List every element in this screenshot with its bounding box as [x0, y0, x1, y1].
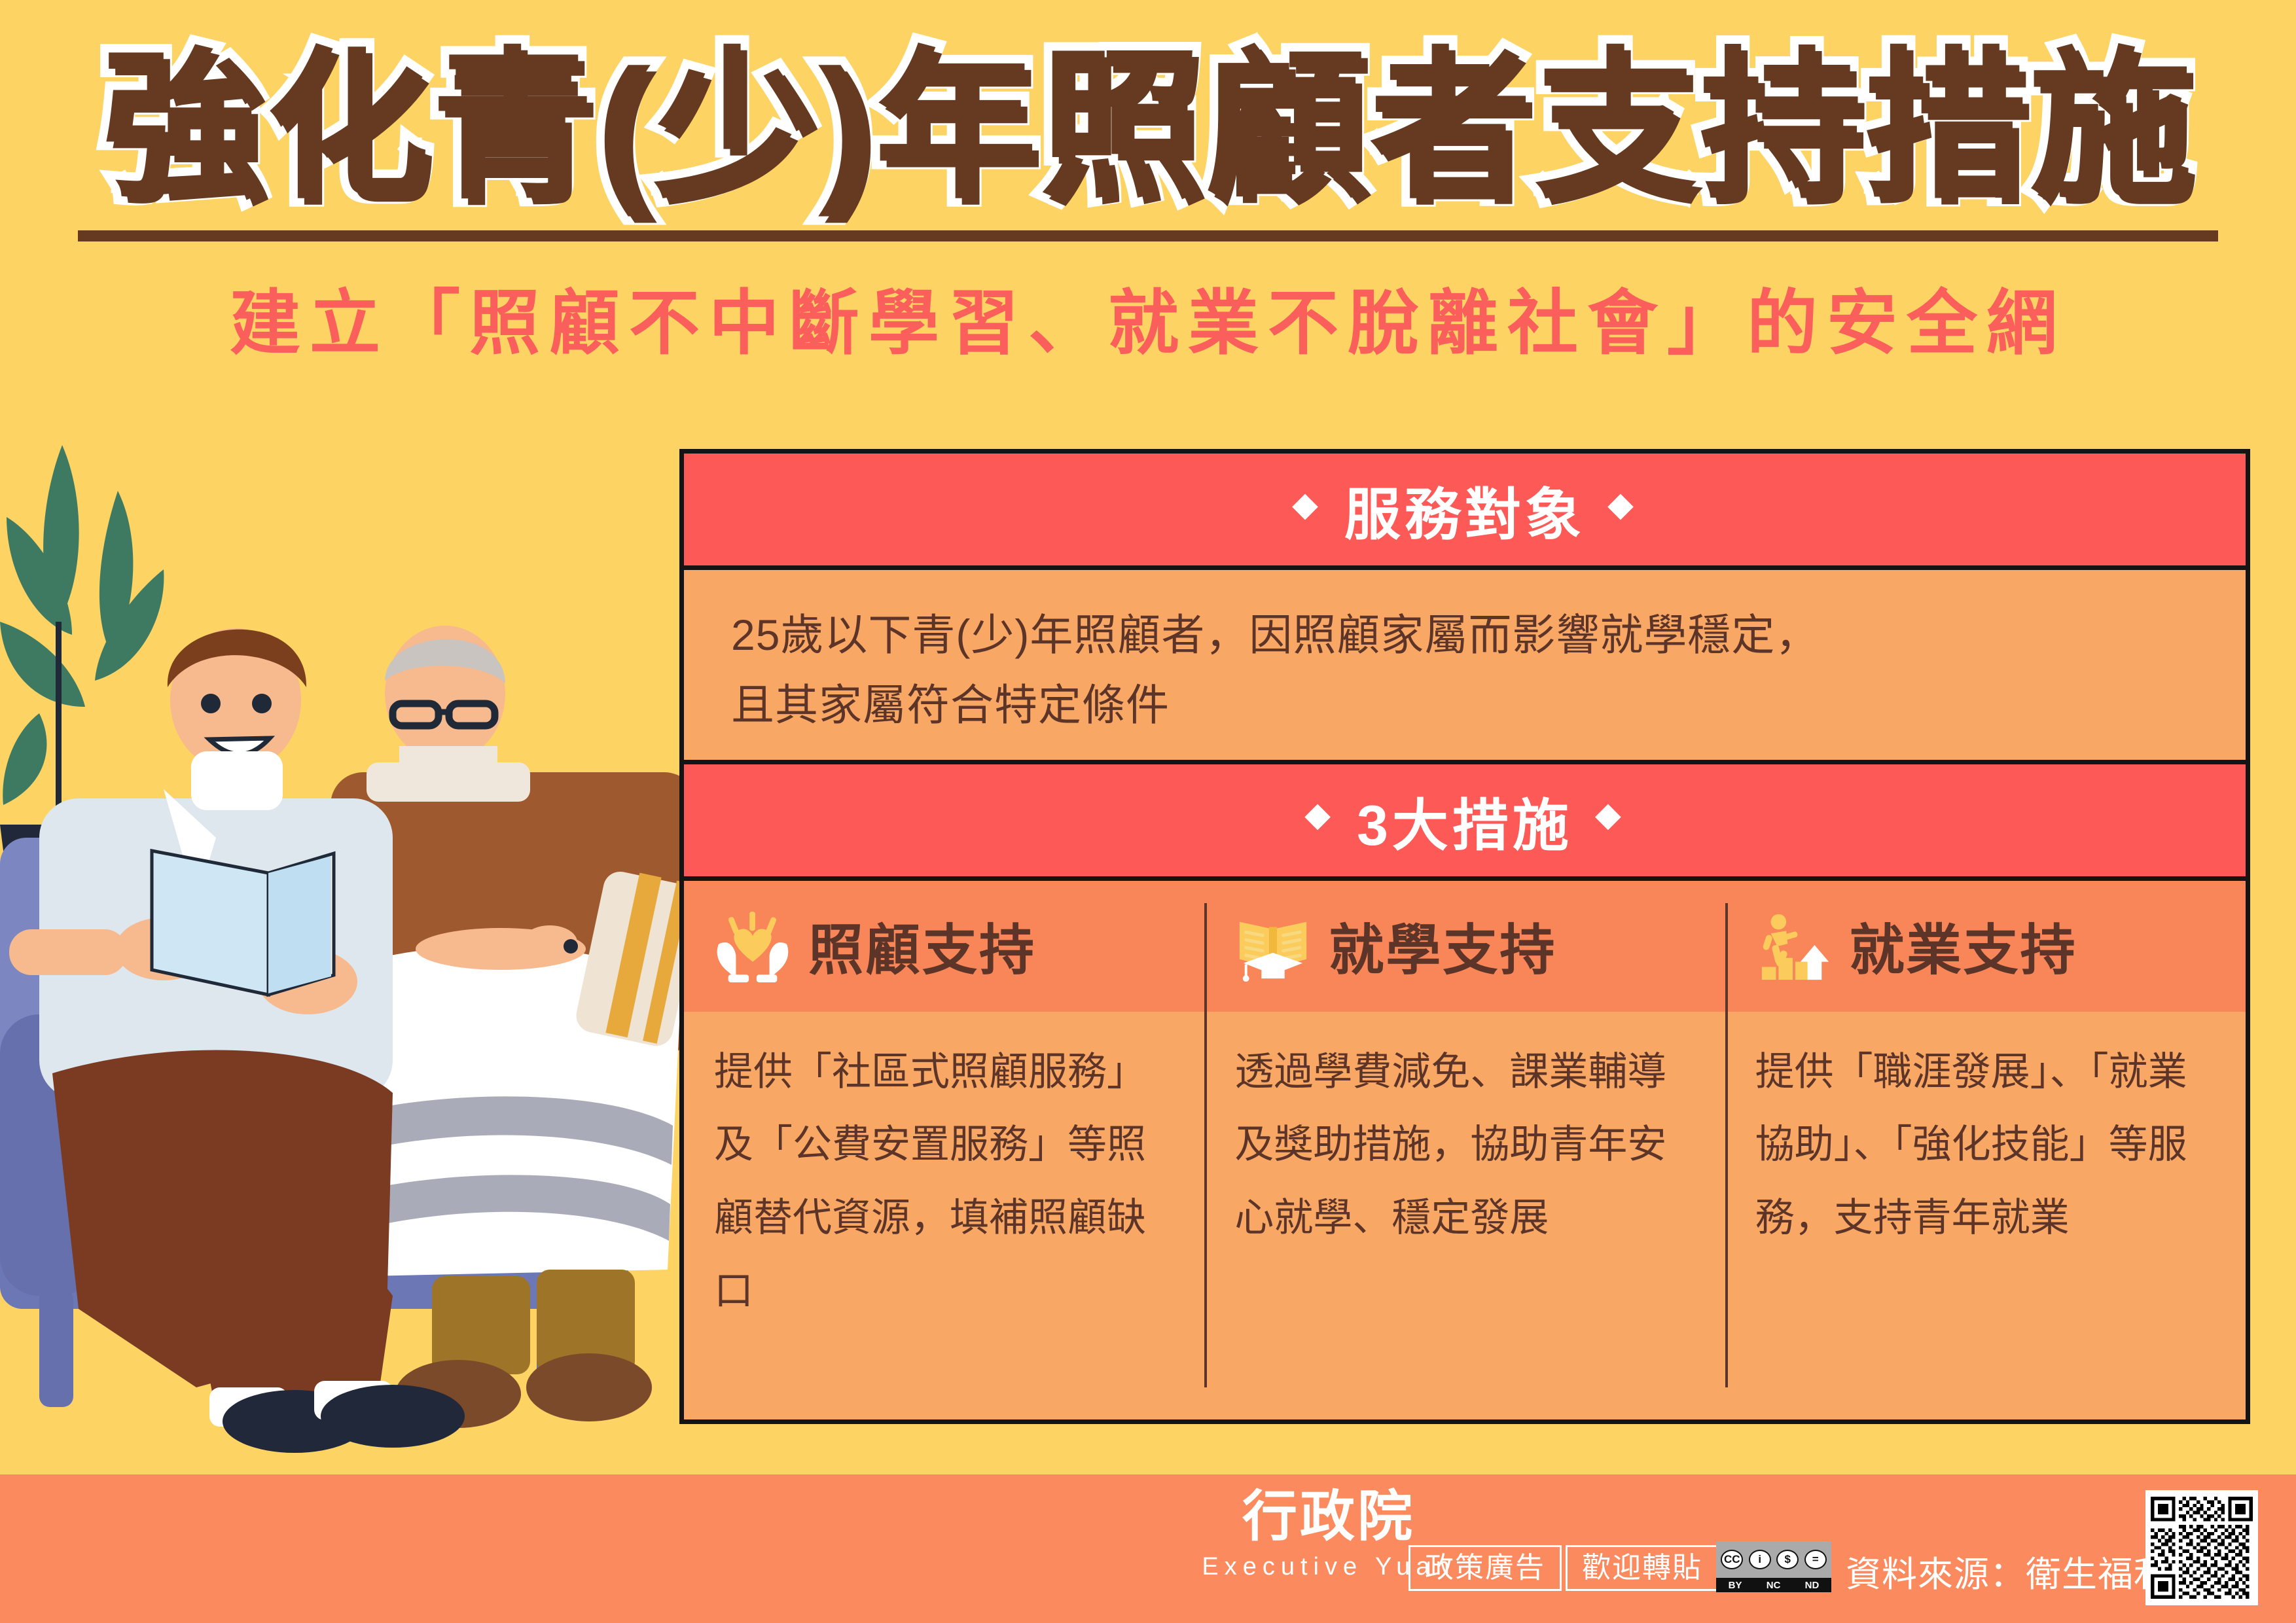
qr-code-icon[interactable]: [2145, 1490, 2258, 1605]
cc-label-nd: ND: [1805, 1580, 1820, 1591]
cc-label-row: BY NC ND: [1716, 1578, 1831, 1592]
diamond-left-icon: ◆: [1292, 485, 1322, 524]
cc-nd-icon: =: [1804, 1550, 1827, 1569]
title-divider: [78, 230, 2218, 241]
audience-heading-label: 服務對象: [1344, 469, 1585, 550]
footer-bar: 行政院 Executive Yuan 政策廣告 歡迎轉貼 CC i $ = BY…: [0, 1474, 2296, 1623]
badge-policy-ad: 政策廣告: [1408, 1545, 1562, 1591]
measures-body-row: 提供「社區式照顧服務」及「公費安置服務」等照顧替代資源，填補照顧缺口 透過學費減…: [684, 1012, 2246, 1470]
measure-body-care-support: 提供「社區式照顧服務」及「公費安置服務」等照顧替代資源，填補照顧缺口: [684, 1012, 1204, 1470]
measure-text-study-support: 透過學費減免、課業輔導及獎助措施，協助青年安心就學、穩定發展: [1234, 1035, 1701, 1255]
header-block: 強化青(少)年照顧者支持措施 建立「照顧不中斷學習、就業不脫離社會」的安全網: [0, 39, 2296, 368]
measures-heading-label: 3大措施: [1357, 779, 1573, 861]
page-subtitle: 建立「照顧不中斷學習、就業不脫離社會」的安全網: [0, 266, 2296, 368]
executive-yuan-logo-cn: 行政院: [1191, 1489, 1466, 1544]
audience-description: 25歲以下青(少)年照顧者，因照顧家屬而影響就學穩定， 且其家屬符合特定條件: [684, 570, 2246, 760]
illustration-caregiver-scene: [0, 406, 694, 1479]
measure-label-employment-support: 就業支持: [1850, 906, 2077, 986]
measure-text-employment-support: 提供「職涯發展」、「就業協助」、「強化技能」等服務，支持青年就業: [1755, 1035, 2222, 1255]
audience-line-2: 且其家屬符合特定條件: [731, 670, 2200, 740]
cc-mark-icon: CC: [1721, 1550, 1743, 1569]
cc-by-icon: i: [1749, 1550, 1771, 1569]
person-climbing-bar-chart-icon: [1755, 908, 1833, 985]
page-title: 強化青(少)年照顧者支持措施: [0, 39, 2296, 215]
open-book-graduation-cap-icon: [1234, 908, 1312, 985]
measure-label-care-support: 照顧支持: [808, 906, 1036, 986]
measure-body-study-support: 透過學費減免、課業輔導及獎助措施，協助青年安心就學、穩定發展: [1204, 1012, 1725, 1470]
measures-header-row: 照顧支持: [684, 881, 2246, 1012]
badge-welcome-repost: 歡迎轉貼: [1566, 1545, 1719, 1591]
cc-label-by: BY: [1729, 1580, 1742, 1591]
content-panel: ◆ 服務對象 ◆ 25歲以下青(少)年照顧者，因照顧家屬而影響就學穩定， 且其家…: [679, 449, 2250, 1424]
measure-label-study-support: 就學支持: [1329, 906, 1556, 986]
creative-commons-license-icon: CC i $ = BY NC ND: [1716, 1541, 1831, 1592]
section-header-audience: ◆ 服務對象 ◆: [684, 454, 2246, 570]
cc-label-nc: NC: [1767, 1580, 1781, 1591]
diamond-right-icon: ◆: [1607, 485, 1638, 524]
cc-nc-icon: $: [1776, 1550, 1799, 1569]
measure-header-care-support: 照顧支持: [684, 881, 1204, 1012]
cc-icon-row: CC i $ =: [1716, 1541, 1831, 1578]
diamond-right-icon: ◆: [1595, 795, 1625, 834]
measure-header-employment-support: 就業支持: [1725, 881, 2246, 1012]
measure-header-study-support: 就學支持: [1204, 881, 1725, 1012]
hands-holding-heart-icon: [714, 908, 791, 985]
diamond-left-icon: ◆: [1304, 795, 1335, 834]
measure-body-employment-support: 提供「職涯發展」、「就業協助」、「強化技能」等服務，支持青年就業: [1725, 1012, 2246, 1470]
audience-line-1: 25歲以下青(少)年照顧者，因照顧家屬而影響就學穩定，: [731, 600, 2200, 670]
section-header-measures: ◆ 3大措施 ◆: [684, 760, 2246, 881]
measure-text-care-support: 提供「社區式照顧服務」及「公費安置服務」等照顧替代資源，填補照顧缺口: [714, 1035, 1181, 1327]
